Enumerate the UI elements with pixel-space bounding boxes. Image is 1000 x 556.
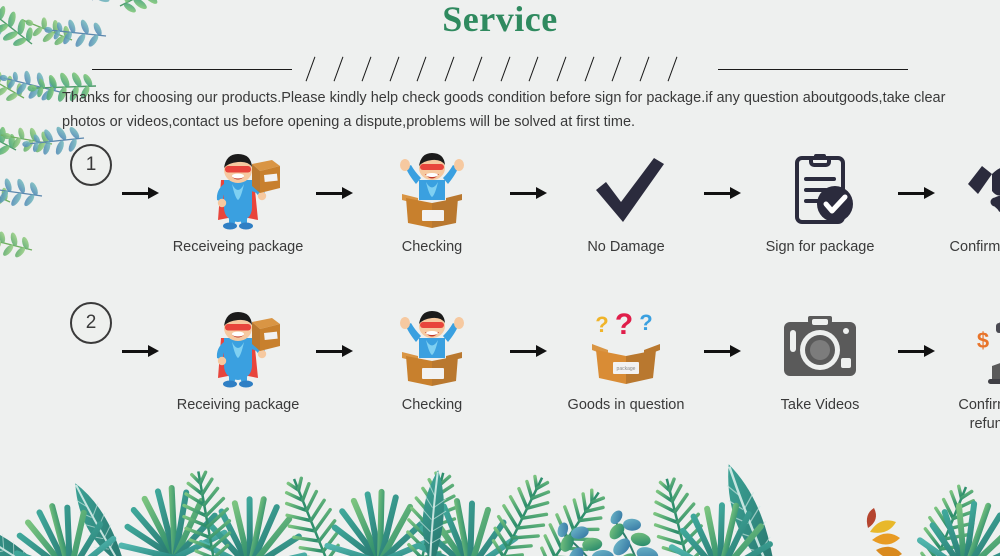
svg-text:$: $	[977, 328, 989, 353]
tropical-flower	[867, 508, 902, 556]
step-confirm-delivery: Confirm the delivery	[940, 150, 1000, 257]
arrow-icon	[700, 336, 746, 426]
divider-slash	[361, 57, 371, 82]
step-label: Confirm the delivery	[950, 238, 1000, 257]
step-label: Checking	[402, 396, 462, 415]
service-info-banner: Service Thanks for choosing our products…	[0, 0, 1000, 556]
divider-slash	[640, 57, 650, 82]
superhero-holding-package-icon	[188, 308, 288, 390]
svg-text:?: ?	[639, 310, 652, 335]
step-confirm-problem-refund: $ $	[940, 308, 1000, 434]
page-title: Service	[0, 0, 1000, 40]
checkmark-icon	[576, 150, 676, 232]
step-label: Sign for package	[766, 238, 875, 257]
step-no-damage: No Damage	[552, 150, 700, 257]
step-label: No Damage	[587, 238, 664, 257]
step-receiving-package: Receiveing package	[164, 150, 312, 257]
clipboard-check-icon	[770, 150, 870, 232]
person-in-open-box-icon	[382, 150, 482, 232]
divider-slash	[501, 57, 511, 82]
person-in-open-box-icon	[382, 308, 482, 390]
divider-slash	[306, 57, 316, 82]
arrow-icon	[118, 178, 164, 268]
divider-slash	[556, 57, 566, 82]
step-label: Confirm problem, refund money	[958, 396, 1000, 434]
flow-row-normal-delivery: 1	[0, 142, 1000, 272]
step-label: Receiveing package	[173, 238, 304, 257]
step-badge-2: 2	[70, 302, 112, 344]
step-goods-in-question: ? ? ? package Goods in question	[552, 308, 700, 415]
divider-slash	[333, 57, 343, 82]
flow-row-problem-delivery: 2	[0, 300, 1000, 430]
arrow-icon	[700, 178, 746, 268]
divider-slash	[389, 57, 399, 82]
open-box-question-marks-icon: ? ? ? package	[576, 308, 676, 390]
step-label: Goods in question	[568, 396, 685, 415]
arrow-icon	[506, 336, 552, 426]
divider-slash	[417, 57, 427, 82]
camera-icon	[770, 308, 870, 390]
step-label: Take Videos	[781, 396, 860, 415]
divider-slashes	[304, 56, 694, 82]
superhero-holding-package-icon	[188, 150, 288, 232]
box-label-text: package	[617, 366, 636, 372]
svg-text:?: ?	[615, 308, 633, 341]
arrow-icon	[312, 336, 358, 426]
divider-line-left	[92, 69, 292, 70]
arrow-icon	[118, 336, 164, 426]
handshake-icon	[964, 150, 1000, 232]
divider-slash	[584, 57, 594, 82]
divider-slash	[612, 57, 622, 82]
arrow-icon	[894, 336, 940, 426]
step-label: Receiving package	[177, 396, 300, 415]
divider-line-right	[718, 69, 908, 70]
step-receiving-package: Receiving package	[164, 308, 312, 415]
divider-slash	[668, 57, 678, 82]
intro-paragraph: Thanks for choosing our products.Please …	[62, 86, 962, 134]
divider-slash	[528, 57, 538, 82]
step-checking: Checking	[358, 308, 506, 415]
svg-text:?: ?	[595, 312, 608, 337]
divider-slash	[445, 57, 455, 82]
support-agent-refund-icon: $ $	[964, 308, 1000, 390]
step-checking: Checking	[358, 150, 506, 257]
step-take-videos: Take Videos	[746, 308, 894, 415]
step-badge-1: 1	[70, 144, 112, 186]
arrow-icon	[506, 178, 552, 268]
decorative-divider	[92, 56, 908, 82]
foliage-bottom-decoration	[0, 422, 1000, 556]
arrow-icon	[312, 178, 358, 268]
step-label: Checking	[402, 238, 462, 257]
arrow-icon	[894, 178, 940, 268]
divider-slash	[473, 57, 483, 82]
step-sign-for-package: Sign for package	[746, 150, 894, 257]
